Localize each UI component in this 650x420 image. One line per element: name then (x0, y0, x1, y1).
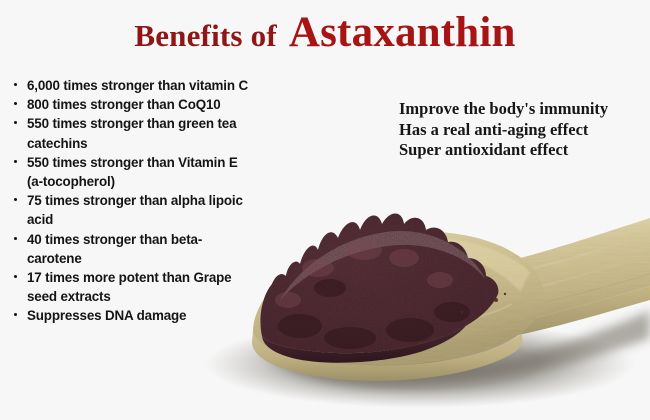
benefit-text: 550 times stronger than Vitamin E (a-toc… (27, 153, 248, 191)
claim-line-2: Has a real anti-aging effect (399, 120, 608, 141)
list-item: Suppresses DNA damage (8, 306, 248, 325)
benefit-text: 75 times stronger than alpha lipoic acid (27, 191, 248, 229)
list-item: 40 times stronger than beta-carotene (8, 230, 248, 268)
benefit-text: 800 times stronger than CoQ10 (27, 95, 248, 114)
bullet-icon (8, 114, 27, 124)
list-item: 6,000 times stronger than vitamin C (8, 76, 248, 95)
bullet-icon (8, 306, 27, 316)
benefit-text: 17 times more potent than Grape seed ext… (27, 268, 248, 306)
benefit-text: 6,000 times stronger than vitamin C (27, 76, 248, 95)
benefits-list: 6,000 times stronger than vitamin C 800 … (8, 76, 248, 326)
bullet-icon (8, 153, 27, 163)
benefit-text: 550 times stronger than green tea catech… (27, 114, 248, 152)
claim-line-3: Super antioxidant effect (399, 140, 608, 161)
astaxanthin-benefits-poster: Benefits ofAstaxanthin 6,000 times stron… (0, 0, 650, 420)
bullet-icon (8, 230, 27, 240)
bullet-icon (8, 76, 27, 86)
benefit-text: 40 times stronger than beta-carotene (27, 230, 248, 268)
claims-block: Improve the body's immunity Has a real a… (399, 99, 608, 161)
list-item: 550 times stronger than Vitamin E (a-toc… (8, 153, 248, 191)
bullet-icon (8, 268, 27, 278)
list-item: 550 times stronger than green tea catech… (8, 114, 248, 152)
list-item: 800 times stronger than CoQ10 (8, 95, 248, 114)
benefit-text: Suppresses DNA damage (27, 306, 248, 325)
bullet-icon (8, 191, 27, 201)
list-item: 75 times stronger than alpha lipoic acid (8, 191, 248, 229)
claim-line-1: Improve the body's immunity (399, 99, 608, 120)
bullet-icon (8, 95, 27, 105)
list-item: 17 times more potent than Grape seed ext… (8, 268, 248, 306)
